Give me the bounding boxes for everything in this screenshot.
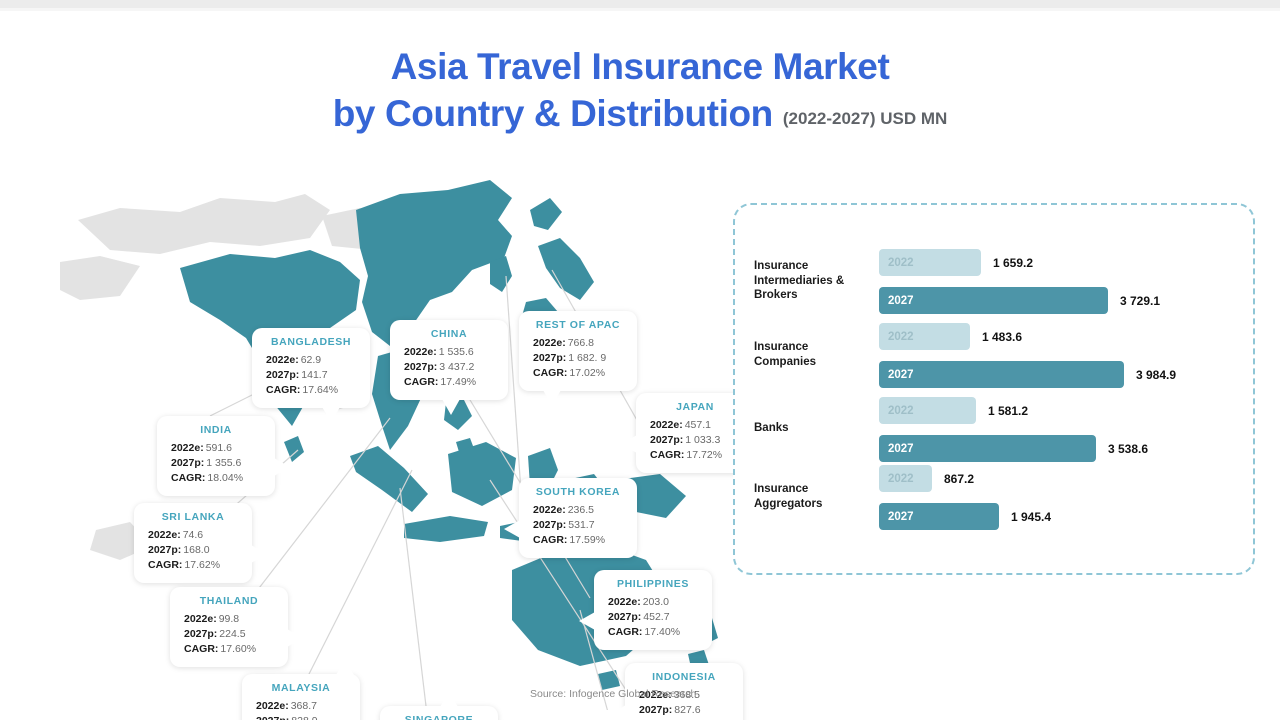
chart-bar-2027[interactable]: 2027 bbox=[879, 503, 999, 530]
distribution-bar-chart: Insurance Intermediaries & Brokers20221 … bbox=[735, 205, 1257, 577]
chart-bar-series-label: 2027 bbox=[888, 295, 914, 307]
infographic-canvas: Asia Travel Insurance Market by Country … bbox=[0, 0, 1280, 720]
country-card-philippines[interactable]: PHILIPPINES2022e:203.02027p:452.7CAGR:17… bbox=[594, 570, 712, 650]
chart-category-label: Insurance Intermediaries & Brokers bbox=[754, 259, 872, 303]
country-card-row-2027: 2027p:3 437.2 bbox=[404, 360, 494, 375]
chart-bar-row: 20273 729.1 bbox=[879, 287, 1249, 314]
country-card-india[interactable]: INDIA2022e:591.62027p:1 355.6CAGR:18.04% bbox=[157, 416, 275, 496]
chart-bar-2022[interactable]: 2022 bbox=[879, 397, 976, 424]
chart-bar-series-label: 2027 bbox=[888, 443, 914, 455]
country-card-row-2022: 2022e:62.9 bbox=[266, 353, 356, 368]
chart-value-label: 1 659.2 bbox=[993, 249, 1033, 276]
country-card-title: MALAYSIA bbox=[256, 682, 346, 694]
country-card-row-2027: 2027p:168.0 bbox=[148, 543, 238, 558]
chart-value-label: 1 483.6 bbox=[982, 323, 1022, 350]
chart-category-label: Insurance Aggregators bbox=[754, 482, 872, 511]
chart-category-label: Banks bbox=[754, 421, 872, 436]
country-card-thailand[interactable]: THAILAND2022e:99.82027p:224.5CAGR:17.60% bbox=[170, 587, 288, 667]
title-line-2: by Country & Distribution(2022-2027) USD… bbox=[0, 91, 1280, 141]
country-card-title: CHINA bbox=[404, 328, 494, 340]
country-card-row-cagr: CAGR:17.49% bbox=[404, 375, 494, 390]
country-card-tail bbox=[287, 629, 303, 647]
country-card-bangladesh[interactable]: BANGLADESH2022e:62.92027p:141.7CAGR:17.6… bbox=[252, 328, 370, 408]
source-note: Source: Infogence Global Research bbox=[530, 688, 696, 700]
chart-bar-row: 20273 984.9 bbox=[879, 361, 1249, 388]
country-card-row-cagr: CAGR:18.04% bbox=[171, 471, 261, 486]
chart-bar-row: 20221 483.6 bbox=[879, 323, 1249, 350]
country-card-title: INDIA bbox=[171, 424, 261, 436]
chart-bar-2022[interactable]: 2022 bbox=[879, 465, 932, 492]
country-card-row-2022: 2022e:203.0 bbox=[608, 595, 698, 610]
country-card-row-2022: 2022e:591.6 bbox=[171, 441, 261, 456]
country-card-row-cagr: CAGR:17.60% bbox=[184, 642, 274, 657]
chart-value-label: 3 729.1 bbox=[1120, 287, 1160, 314]
chart-bar-2027[interactable]: 2027 bbox=[879, 361, 1124, 388]
chart-value-label: 3 538.6 bbox=[1108, 435, 1148, 462]
country-card-row-2022: 2022e:457.1 bbox=[650, 418, 740, 433]
country-card-title: REST OF APAC bbox=[533, 319, 623, 331]
top-strip-secondary bbox=[0, 8, 1280, 11]
title-line-2-text: by Country & Distribution bbox=[333, 93, 773, 134]
country-card-row-2022: 2022e:99.8 bbox=[184, 612, 274, 627]
country-card-row-2022: 2022e:1 535.6 bbox=[404, 345, 494, 360]
country-card-title: JAPAN bbox=[650, 401, 740, 413]
chart-bar-series-label: 2022 bbox=[888, 405, 914, 417]
top-strip bbox=[0, 0, 1280, 8]
chart-bar-series-label: 2022 bbox=[888, 473, 914, 485]
country-card-tail bbox=[274, 458, 290, 476]
country-card-tail bbox=[440, 691, 458, 707]
country-card-tail bbox=[579, 612, 595, 630]
country-card-row-2027: 2027p:1 355.6 bbox=[171, 456, 261, 471]
country-card-row-2027: 2027p:531.7 bbox=[533, 518, 623, 533]
country-card-tail bbox=[442, 399, 460, 415]
country-card-row-cagr: CAGR:17.72% bbox=[650, 448, 740, 463]
country-card-title: INDONESIA bbox=[639, 671, 729, 683]
country-card-south-korea[interactable]: SOUTH KOREA2022e:236.52027p:531.7CAGR:17… bbox=[519, 478, 637, 558]
chart-bar-series-label: 2027 bbox=[888, 511, 914, 523]
chart-bar-row: 20221 581.2 bbox=[879, 397, 1249, 424]
chart-bar-2027[interactable]: 2027 bbox=[879, 435, 1096, 462]
country-card-row-cagr: CAGR:17.64% bbox=[266, 383, 356, 398]
chart-value-label: 1 945.4 bbox=[1011, 503, 1051, 530]
chart-bar-2027[interactable]: 2027 bbox=[879, 287, 1108, 314]
country-card-singapore[interactable]: SINGAPORE2022e:226.22027p:507.9CAGR:17.5… bbox=[380, 706, 498, 720]
title-line-1: Asia Travel Insurance Market bbox=[0, 44, 1280, 89]
chart-bar-row: 20271 945.4 bbox=[879, 503, 1249, 530]
chart-bar-series-label: 2027 bbox=[888, 369, 914, 381]
distribution-chart-panel: Insurance Intermediaries & Brokers20221 … bbox=[733, 203, 1255, 575]
country-card-row-2027: 2027p:224.5 bbox=[184, 627, 274, 642]
chart-bar-series-label: 2022 bbox=[888, 257, 914, 269]
chart-bar-row: 20221 659.2 bbox=[879, 249, 1249, 276]
asia-map: BANGLADESH2022e:62.92027p:141.7CAGR:17.6… bbox=[60, 150, 740, 710]
country-card-tail bbox=[504, 520, 520, 538]
country-card-tail bbox=[543, 390, 561, 406]
country-card-row-cagr: CAGR:17.02% bbox=[533, 366, 623, 381]
country-card-title: SINGAPORE bbox=[394, 714, 484, 720]
chart-value-label: 3 984.9 bbox=[1136, 361, 1176, 388]
chart-value-label: 1 581.2 bbox=[988, 397, 1028, 424]
country-card-title: SOUTH KOREA bbox=[533, 486, 623, 498]
chart-bar-series-label: 2022 bbox=[888, 331, 914, 343]
country-card-sri-lanka[interactable]: SRI LANKA2022e:74.62027p:168.0CAGR:17.62… bbox=[134, 503, 252, 583]
country-card-row-2027: 2027p:1 682. 9 bbox=[533, 351, 623, 366]
country-card-row-cagr: CAGR:17.59% bbox=[533, 533, 623, 548]
country-card-tail bbox=[336, 659, 354, 675]
country-card-row-2022: 2022e:74.6 bbox=[148, 528, 238, 543]
country-card-tail bbox=[251, 545, 267, 563]
country-card-row-2022: 2022e:368.7 bbox=[256, 699, 346, 714]
country-card-row-2027: 2027p:452.7 bbox=[608, 610, 698, 625]
country-card-row-2027: 2027p:828.9 bbox=[256, 714, 346, 720]
title-subtitle: (2022-2027) USD MN bbox=[783, 109, 947, 128]
chart-bar-2022[interactable]: 2022 bbox=[879, 323, 970, 350]
country-card-china[interactable]: CHINA2022e:1 535.62027p:3 437.2CAGR:17.4… bbox=[390, 320, 508, 400]
country-card-title: THAILAND bbox=[184, 595, 274, 607]
country-card-malaysia[interactable]: MALAYSIA2022e:368.72027p:828.9CAGR:17.59… bbox=[242, 674, 360, 720]
country-card-tail bbox=[610, 705, 626, 720]
page-title: Asia Travel Insurance Market by Country … bbox=[0, 44, 1280, 141]
country-card-rest-of-apac[interactable]: REST OF APAC2022e:766.82027p:1 682. 9CAG… bbox=[519, 311, 637, 391]
country-card-tail bbox=[621, 435, 637, 453]
country-card-row-cagr: CAGR:17.40% bbox=[608, 625, 698, 640]
country-card-title: BANGLADESH bbox=[266, 336, 356, 348]
chart-bar-row: 2022867.2 bbox=[879, 465, 1249, 492]
country-card-row-2027: 2027p:141.7 bbox=[266, 368, 356, 383]
country-card-row-2022: 2022e:766.8 bbox=[533, 336, 623, 351]
chart-bar-2022[interactable]: 2022 bbox=[879, 249, 981, 276]
country-card-row-2027: 2027p:1 033.3 bbox=[650, 433, 740, 448]
country-card-row-2022: 2022e:236.5 bbox=[533, 503, 623, 518]
country-card-title: PHILIPPINES bbox=[608, 578, 698, 590]
chart-bar-row: 20273 538.6 bbox=[879, 435, 1249, 462]
country-card-row-cagr: CAGR:17.62% bbox=[148, 558, 238, 573]
chart-value-label: 867.2 bbox=[944, 465, 974, 492]
country-card-row-2027: 2027p:827.6 bbox=[639, 703, 729, 718]
chart-category-label: Insurance Companies bbox=[754, 340, 872, 369]
country-card-tail bbox=[322, 407, 340, 423]
country-card-title: SRI LANKA bbox=[148, 511, 238, 523]
